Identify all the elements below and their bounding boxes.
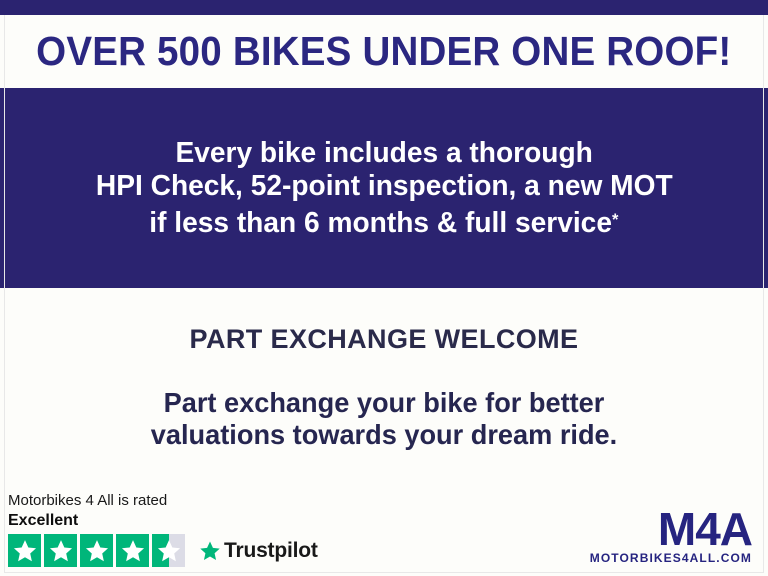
star-icon <box>116 534 149 567</box>
star-icon <box>8 534 41 567</box>
m4a-logo-mark: M4A <box>590 508 752 550</box>
part-exchange-body: Part exchange your bike for better valua… <box>0 387 768 451</box>
footnote-asterisk: * <box>612 210 618 229</box>
headline-band: OVER 500 BIKES UNDER ONE ROOF! <box>0 15 768 88</box>
trustpilot-brand-label: Trustpilot <box>224 539 318 563</box>
part-exchange-heading: PART EXCHANGE WELCOME <box>0 324 768 355</box>
trustpilot-stars <box>8 534 185 567</box>
part-exchange-body-line-2: valuations towards your dream ride. <box>12 419 757 451</box>
feature-line-3-text: if less than 6 months & full service <box>149 207 612 239</box>
feature-line-1: Every bike includes a thorough <box>175 137 592 170</box>
half-star-icon <box>152 534 185 567</box>
page-border-left <box>4 15 5 573</box>
feature-line-3: if less than 6 months & full service* <box>149 203 618 240</box>
trustpilot-rated-text: Motorbikes 4 All is rated <box>8 492 328 510</box>
page-border-bottom <box>4 572 764 573</box>
trustpilot-rating-row: Trustpilot <box>8 534 328 567</box>
page-border-right <box>763 15 764 573</box>
trustpilot-widget[interactable]: Motorbikes 4 All is rated Excellent <box>8 492 328 567</box>
page-title: OVER 500 BIKES UNDER ONE ROOF! <box>36 28 731 75</box>
promo-banner: OVER 500 BIKES UNDER ONE ROOF! Every bik… <box>0 0 768 576</box>
trustpilot-star-icon <box>199 540 221 562</box>
feature-line-2: HPI Check, 52-point inspection, a new MO… <box>96 170 673 203</box>
part-exchange-body-line-1: Part exchange your bike for better <box>12 387 757 419</box>
trustpilot-logo[interactable]: Trustpilot <box>199 539 318 563</box>
feature-block: Every bike includes a thorough HPI Check… <box>0 88 768 288</box>
m4a-logo-wordmark: MOTORBIKES4ALL.COM <box>590 551 752 565</box>
top-navy-rule <box>0 0 768 15</box>
m4a-logo[interactable]: M4A MOTORBIKES4ALL.COM <box>590 508 752 565</box>
star-icon <box>44 534 77 567</box>
trustpilot-rating-label: Excellent <box>8 511 328 530</box>
star-icon <box>80 534 113 567</box>
